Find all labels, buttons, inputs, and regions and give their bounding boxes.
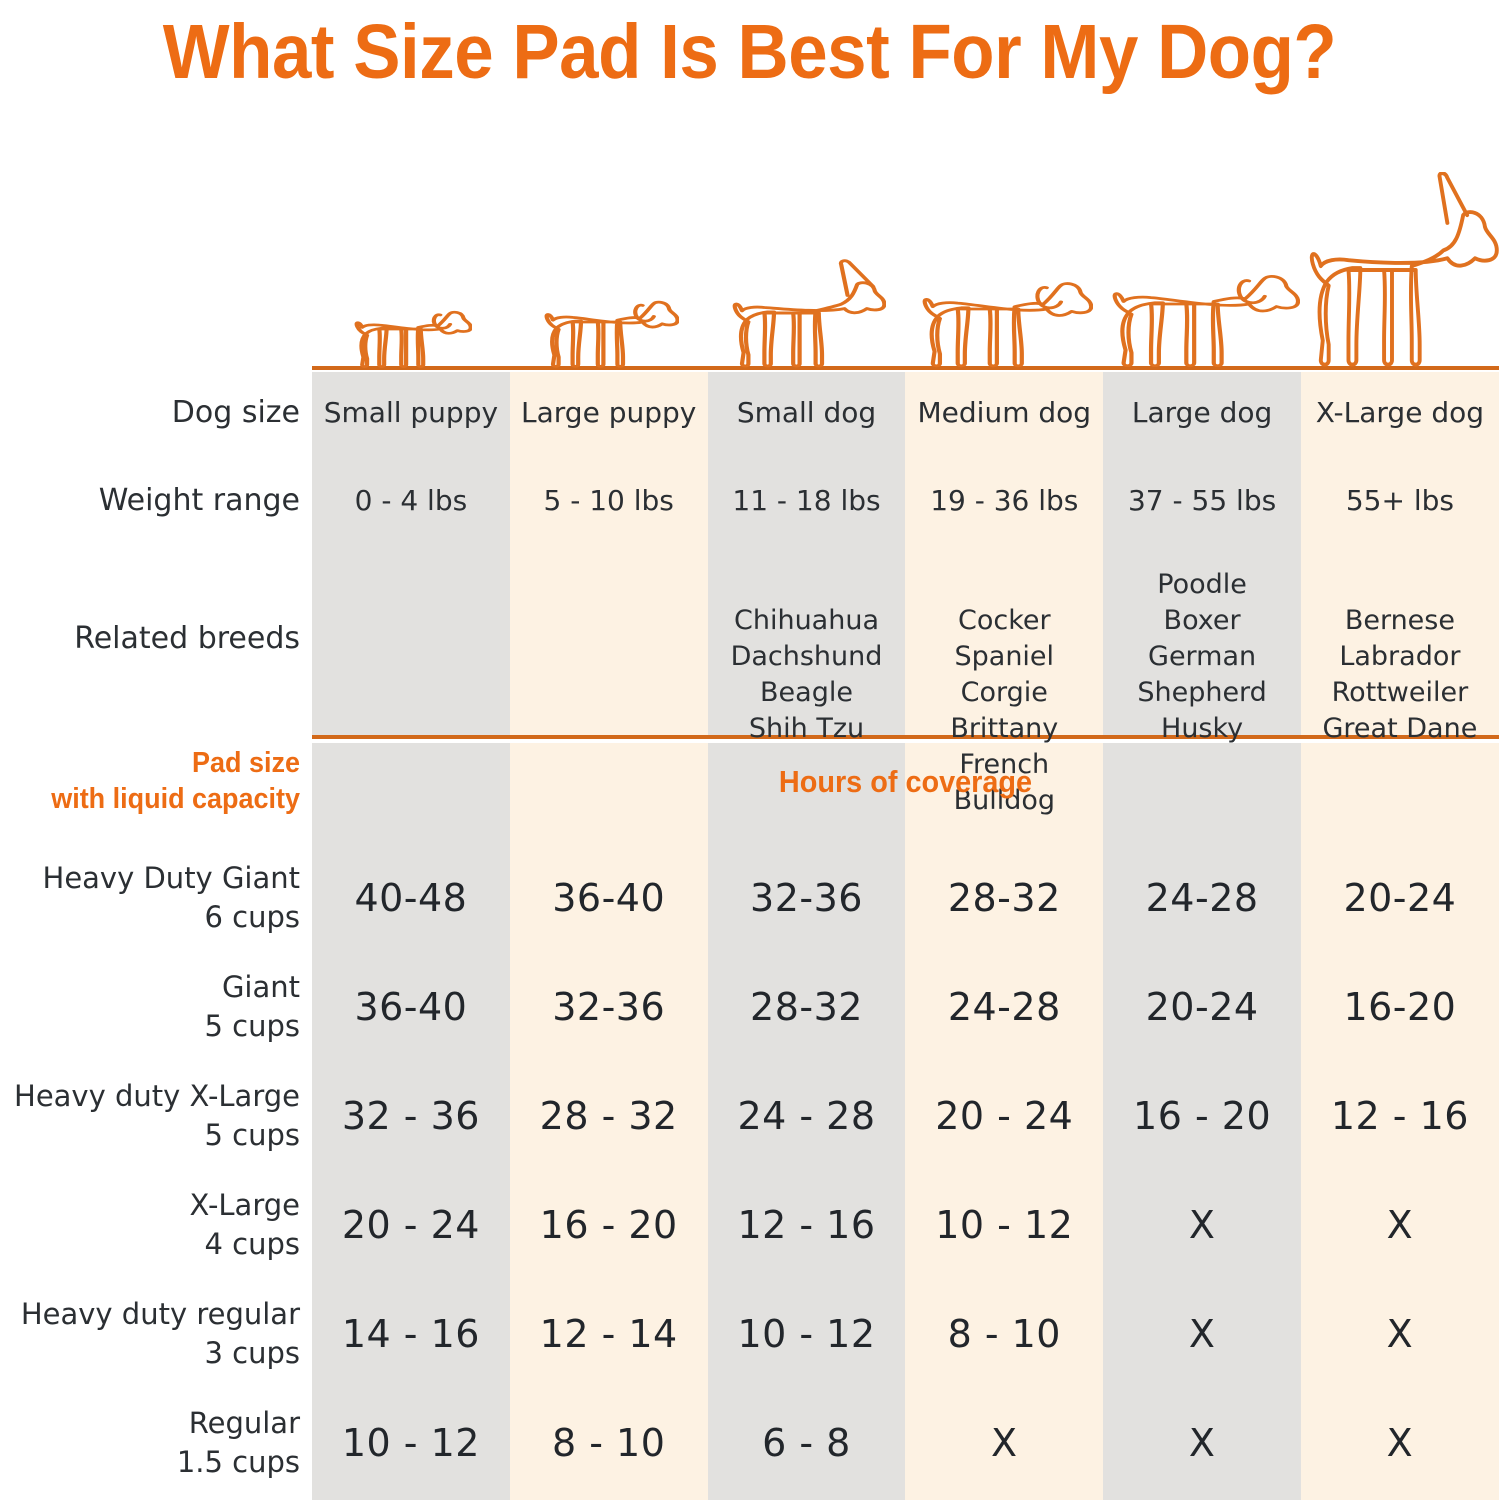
pad-capacity: 5 cups bbox=[204, 1007, 300, 1046]
dog-silhouette-row bbox=[312, 150, 1499, 368]
dog-silhouette-2 bbox=[510, 150, 708, 368]
coverage-cell-small-puppy: 14 - 16 bbox=[312, 1279, 510, 1388]
pad-row-cells: 20 - 2416 - 2012 - 1610 - 12XX bbox=[312, 1170, 1499, 1279]
breed-name: Shepherd bbox=[1103, 675, 1301, 711]
pad-name: X-Large bbox=[190, 1186, 300, 1225]
dog-silhouette-1 bbox=[312, 150, 510, 368]
cell-dogsize-medium-dog: Medium dog bbox=[905, 394, 1103, 432]
coverage-cell-medium-dog: 8 - 10 bbox=[905, 1279, 1103, 1388]
breed-name: Shih Tzu bbox=[708, 711, 906, 747]
dog-silhouette-3 bbox=[708, 150, 906, 368]
pad-name: Heavy Duty Giant bbox=[43, 859, 300, 898]
cell-breeds-large-dog: PoodleBoxerGermanShepherdHusky bbox=[1103, 567, 1301, 747]
cell-breeds-small-dog: ChihuahuaDachshundBeagleShih Tzu bbox=[708, 603, 906, 747]
hours-of-coverage-heading: Hours of coverage bbox=[354, 763, 1458, 801]
coverage-cell-x-large-dog: 16-20 bbox=[1301, 952, 1499, 1061]
row-label-weight-range: Weight range bbox=[0, 482, 300, 520]
breed-name: Bernese bbox=[1301, 603, 1499, 639]
coverage-cell-small-dog: 28-32 bbox=[708, 952, 906, 1061]
coverage-cell-x-large-dog: X bbox=[1301, 1388, 1499, 1497]
cell-weight-medium-dog: 19 - 36 lbs bbox=[905, 482, 1103, 520]
breed-name: Corgie bbox=[905, 675, 1103, 711]
coverage-cell-medium-dog: X bbox=[905, 1388, 1103, 1497]
coverage-cell-small-dog: 12 - 16 bbox=[708, 1170, 906, 1279]
pad-name: Giant bbox=[222, 968, 300, 1007]
coverage-cell-x-large-dog: X bbox=[1301, 1279, 1499, 1388]
pad-row-label: Heavy duty regular3 cups bbox=[0, 1279, 300, 1388]
cell-weight-large-dog: 37 - 55 lbs bbox=[1103, 482, 1301, 520]
coverage-cell-large-dog: X bbox=[1103, 1170, 1301, 1279]
pad-row-label: Giant5 cups bbox=[0, 952, 300, 1061]
breed-name: Husky bbox=[1103, 711, 1301, 747]
breed-name: Labrador bbox=[1301, 639, 1499, 675]
coverage-cell-small-puppy: 10 - 12 bbox=[312, 1388, 510, 1497]
coverage-cell-x-large-dog: X bbox=[1301, 1170, 1499, 1279]
dog-silhouette-6 bbox=[1301, 150, 1499, 368]
coverage-cell-large-dog: X bbox=[1103, 1388, 1301, 1497]
coverage-cell-x-large-dog: 20-24 bbox=[1301, 843, 1499, 952]
pad-row-cells: 10 - 128 - 106 - 8XXX bbox=[312, 1388, 1499, 1497]
dog-silhouette-4 bbox=[905, 150, 1103, 368]
coverage-cell-large-puppy: 8 - 10 bbox=[510, 1388, 708, 1497]
pad-row-cells: 40-4836-4032-3628-3224-2820-24 bbox=[312, 843, 1499, 952]
breed-name: Beagle bbox=[708, 675, 906, 711]
pad-row-label: Regular1.5 cups bbox=[0, 1388, 300, 1497]
coverage-cell-small-puppy: 20 - 24 bbox=[312, 1170, 510, 1279]
coverage-cell-large-dog: 20-24 bbox=[1103, 952, 1301, 1061]
pad-size-heading: Pad size with liquid capacity bbox=[21, 745, 300, 817]
cell-weight-x-large-dog: 55+ lbs bbox=[1301, 482, 1499, 520]
breed-name: Poodle bbox=[1103, 567, 1301, 603]
coverage-cell-small-puppy: 36-40 bbox=[312, 952, 510, 1061]
coverage-cell-large-dog: 16 - 20 bbox=[1103, 1061, 1301, 1170]
pad-row: Giant5 cups36-4032-3628-3224-2820-2416-2… bbox=[0, 952, 1499, 1061]
breed-name: Boxer bbox=[1103, 603, 1301, 639]
coverage-cell-small-dog: 32-36 bbox=[708, 843, 906, 952]
coverage-cell-medium-dog: 10 - 12 bbox=[905, 1170, 1103, 1279]
dog-silhouette-5 bbox=[1103, 150, 1301, 368]
coverage-cell-small-dog: 24 - 28 bbox=[708, 1061, 906, 1170]
pad-row-cells: 14 - 1612 - 1410 - 128 - 10XX bbox=[312, 1279, 1499, 1388]
breed-name: Chihuahua bbox=[708, 603, 906, 639]
cell-weight-small-puppy: 0 - 4 lbs bbox=[312, 482, 510, 520]
dog-info-table: Dog size Small puppyLarge puppySmall dog… bbox=[0, 372, 1499, 735]
page-title: What Size Pad Is Best For My Dog? bbox=[60, 4, 1439, 100]
pad-row: Regular1.5 cups10 - 128 - 106 - 8XXX bbox=[0, 1388, 1499, 1497]
coverage-cell-medium-dog: 28-32 bbox=[905, 843, 1103, 952]
cell-breeds-x-large-dog: BerneseLabradorRottweilerGreat Dane bbox=[1301, 603, 1499, 747]
cell-dogsize-large-dog: Large dog bbox=[1103, 394, 1301, 432]
coverage-cell-large-puppy: 16 - 20 bbox=[510, 1170, 708, 1279]
coverage-cell-x-large-dog: 12 - 16 bbox=[1301, 1061, 1499, 1170]
pad-row-label: Heavy Duty Giant6 cups bbox=[0, 843, 300, 952]
pad-row-label: Heavy duty X-Large5 cups bbox=[0, 1061, 300, 1170]
pad-name: Regular bbox=[189, 1404, 300, 1443]
pad-capacity: 6 cups bbox=[204, 898, 300, 937]
pad-row-cells: 32 - 3628 - 3224 - 2820 - 2416 - 2012 - … bbox=[312, 1061, 1499, 1170]
pad-row: X-Large4 cups20 - 2416 - 2012 - 1610 - 1… bbox=[0, 1170, 1499, 1279]
pad-row-label: X-Large4 cups bbox=[0, 1170, 300, 1279]
coverage-cell-small-puppy: 32 - 36 bbox=[312, 1061, 510, 1170]
coverage-cell-small-dog: 6 - 8 bbox=[708, 1388, 906, 1497]
breed-name: Great Dane bbox=[1301, 711, 1499, 747]
coverage-cell-small-puppy: 40-48 bbox=[312, 843, 510, 952]
coverage-cell-medium-dog: 24-28 bbox=[905, 952, 1103, 1061]
cell-dogsize-large-puppy: Large puppy bbox=[510, 394, 708, 432]
coverage-cell-large-dog: 24-28 bbox=[1103, 843, 1301, 952]
coverage-cell-small-dog: 10 - 12 bbox=[708, 1279, 906, 1388]
pad-name: Heavy duty regular bbox=[21, 1295, 300, 1334]
breed-name: Dachshund bbox=[708, 639, 906, 675]
pad-size-heading-line2: with liquid capacity bbox=[21, 781, 300, 817]
cell-weight-small-dog: 11 - 18 lbs bbox=[708, 482, 906, 520]
row-label-related-breeds: Related breeds bbox=[0, 620, 300, 658]
breed-name: German bbox=[1103, 639, 1301, 675]
pad-row: Heavy duty regular3 cups14 - 1612 - 1410… bbox=[0, 1279, 1499, 1388]
row-label-dog-size: Dog size bbox=[0, 394, 300, 432]
pad-capacity: 5 cups bbox=[204, 1116, 300, 1155]
pad-size-heading-line1: Pad size bbox=[21, 745, 300, 781]
coverage-cell-large-puppy: 36-40 bbox=[510, 843, 708, 952]
coverage-cell-medium-dog: 20 - 24 bbox=[905, 1061, 1103, 1170]
pad-capacity: 1.5 cups bbox=[177, 1443, 300, 1482]
cell-weight-large-puppy: 5 - 10 lbs bbox=[510, 482, 708, 520]
pad-row: Heavy Duty Giant6 cups40-4836-4032-3628-… bbox=[0, 843, 1499, 952]
breed-name: Cocker Spaniel bbox=[905, 603, 1103, 675]
coverage-cell-large-puppy: 12 - 14 bbox=[510, 1279, 708, 1388]
coverage-cell-large-dog: X bbox=[1103, 1279, 1301, 1388]
pad-name: Heavy duty X-Large bbox=[14, 1077, 300, 1116]
pad-row: Heavy duty X-Large5 cups32 - 3628 - 3224… bbox=[0, 1061, 1499, 1170]
breed-name: Brittany bbox=[905, 711, 1103, 747]
pad-capacity: 4 cups bbox=[204, 1225, 300, 1264]
cell-dogsize-small-puppy: Small puppy bbox=[312, 394, 510, 432]
pad-capacity: 3 cups bbox=[204, 1334, 300, 1373]
coverage-cell-large-puppy: 28 - 32 bbox=[510, 1061, 708, 1170]
breed-name: Rottweiler bbox=[1301, 675, 1499, 711]
infographic-page: What Size Pad Is Best For My Dog? Dog si… bbox=[0, 0, 1499, 1500]
pad-size-table: Heavy Duty Giant6 cups40-4836-4032-3628-… bbox=[0, 843, 1499, 1500]
cell-dogsize-small-dog: Small dog bbox=[708, 394, 906, 432]
cell-dogsize-x-large-dog: X-Large dog bbox=[1301, 394, 1499, 432]
coverage-cell-large-puppy: 32-36 bbox=[510, 952, 708, 1061]
pad-row-cells: 36-4032-3628-3224-2820-2416-20 bbox=[312, 952, 1499, 1061]
